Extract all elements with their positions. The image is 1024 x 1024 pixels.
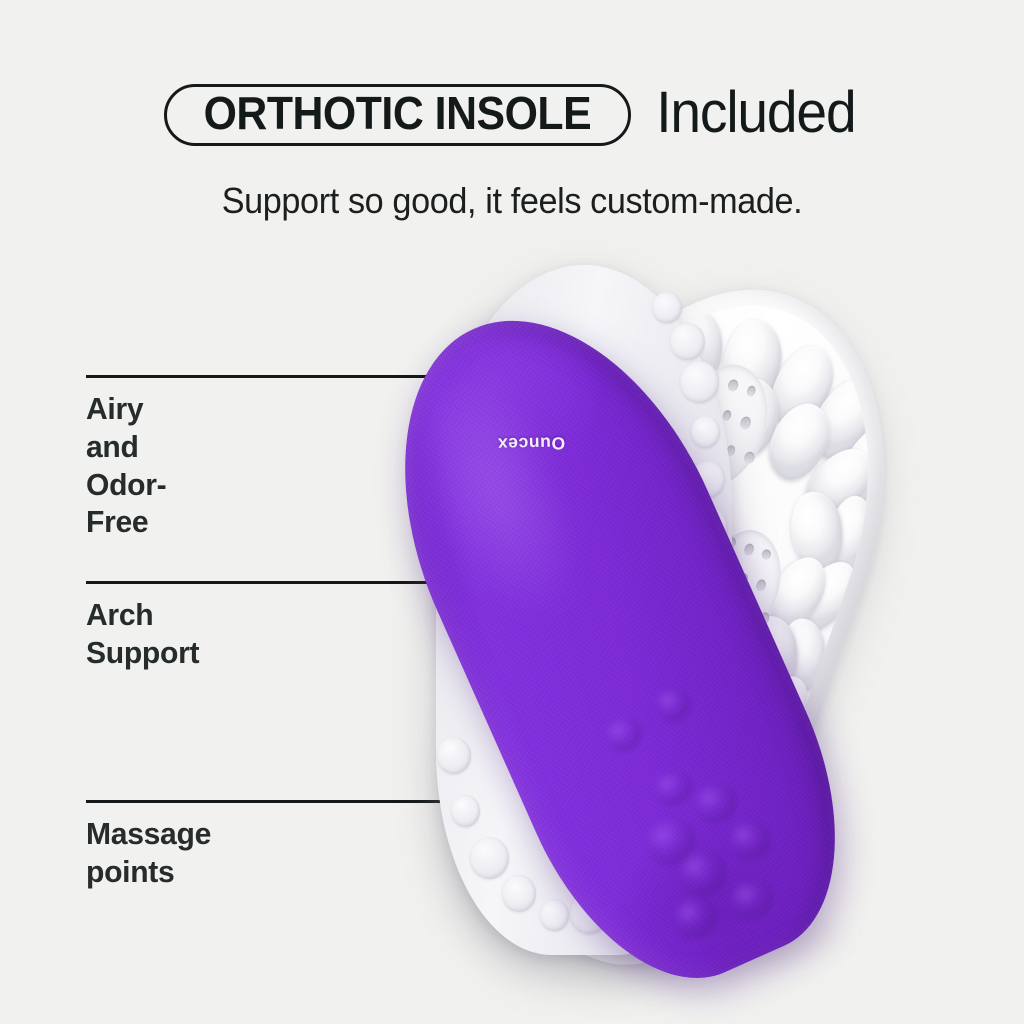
foam-scallop — [451, 795, 481, 827]
ventilation-hole — [755, 578, 768, 592]
ventilation-hole — [743, 451, 756, 466]
foam-scallop — [540, 899, 570, 931]
callout-label: Airy and Odor-Free — [86, 390, 166, 541]
headline: ORTHOTIC INSOLE Included — [0, 84, 1024, 146]
foam-scallop — [437, 737, 471, 774]
callout-label: Massage points — [86, 815, 211, 891]
brand-logo: Ouncex — [497, 432, 565, 454]
ventilation-hole — [726, 378, 739, 393]
foam-scallop — [680, 361, 719, 403]
ventilation-hole — [743, 543, 756, 557]
product-image: Ouncex — [420, 255, 1024, 995]
subtitle: Support so good, it feels custom-made. — [26, 180, 999, 222]
foam-scallop — [470, 837, 509, 879]
ventilation-hole — [761, 549, 772, 561]
ventilation-hole — [745, 384, 757, 397]
headline-pill-label: ORTHOTIC INSOLE — [203, 90, 591, 136]
ventilation-hole — [721, 409, 733, 422]
ventilation-hole — [739, 416, 752, 431]
callout-label: Arch Support — [86, 596, 199, 672]
headline-suffix: Included — [656, 84, 855, 142]
orthotic-insole-pill: ORTHOTIC INSOLE — [164, 84, 631, 146]
foam-scallop — [502, 875, 536, 912]
foam-scallop — [670, 323, 704, 360]
foam-scallop — [691, 416, 721, 448]
foam-scallop — [652, 292, 682, 324]
